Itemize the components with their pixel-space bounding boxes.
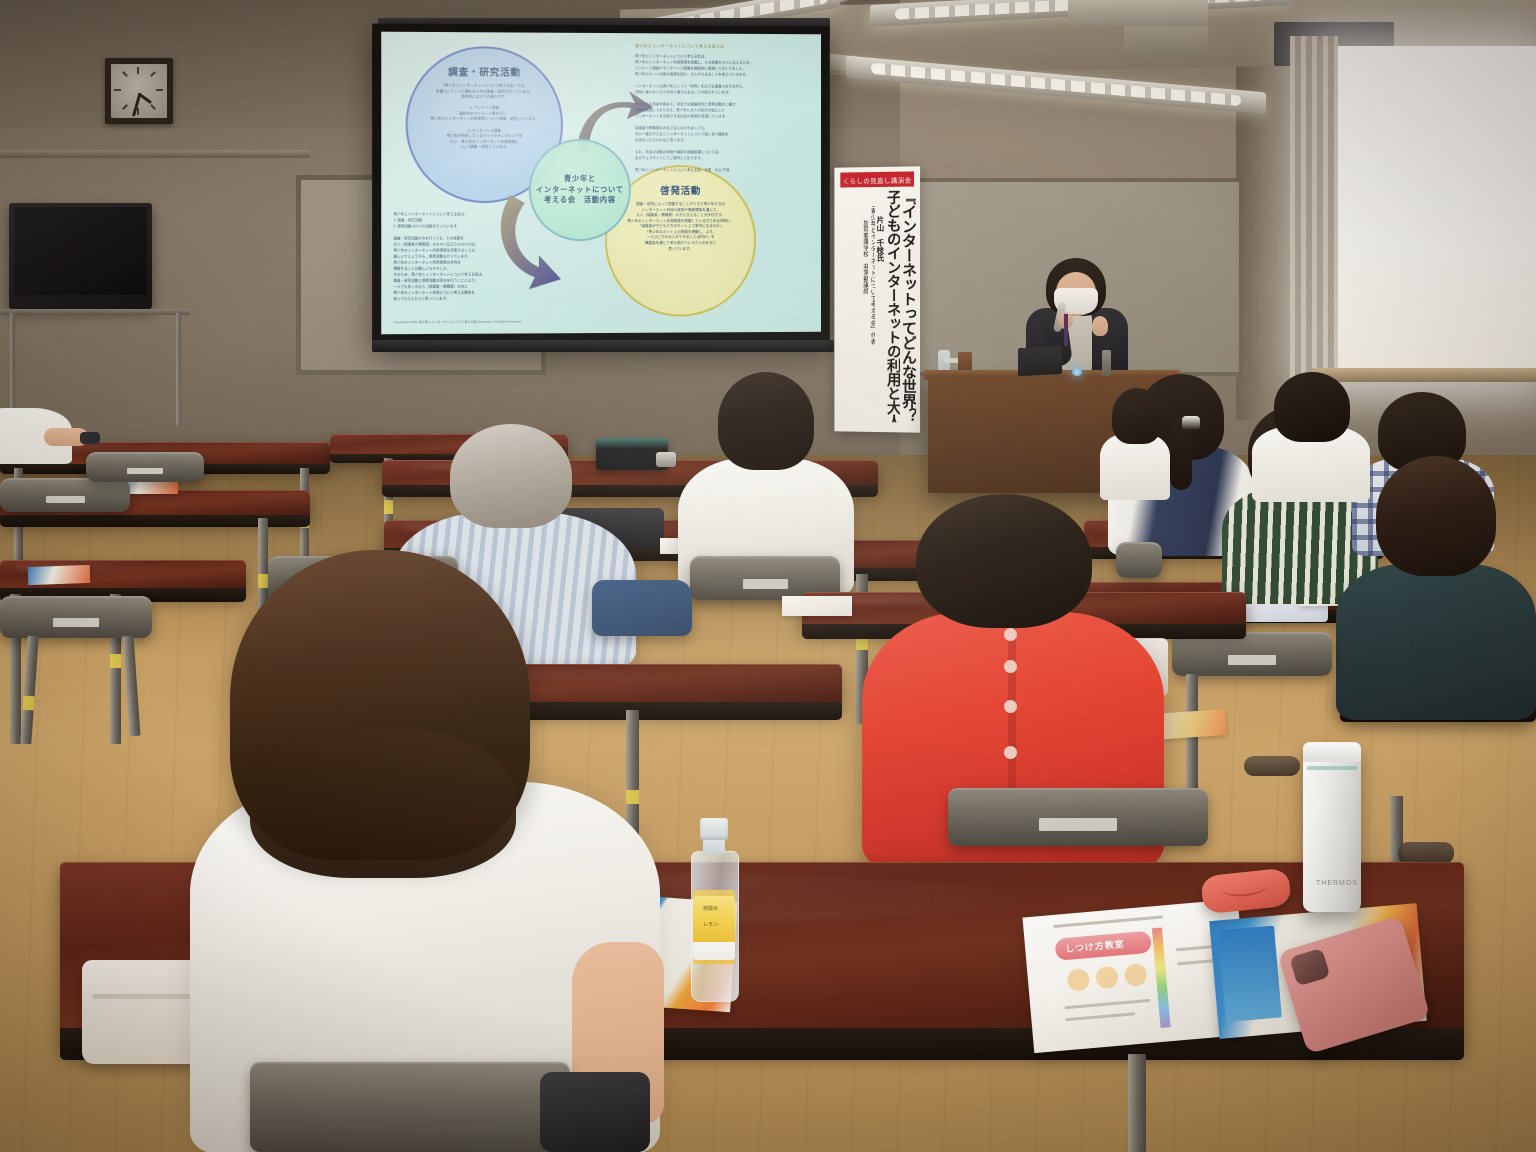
chair-label (46, 496, 85, 503)
chair-foreground (250, 1062, 570, 1152)
chair-backrest (948, 788, 1208, 846)
person-grey-hair (450, 424, 572, 528)
clock-tick (122, 104, 128, 110)
banner-header-label: くらしの見直し講演会 (840, 171, 914, 187)
presenter-lanyard (1064, 314, 1068, 346)
person-white-blouse-right (1100, 388, 1170, 498)
clock-tick (150, 71, 156, 77)
brochure-text-line (1064, 999, 1150, 1009)
slide-copyright: Copyright(C) 2011 青少年とインターネットについて考える会 Co… (393, 319, 521, 324)
person-ponytail (1170, 420, 1192, 490)
chair-label (53, 618, 99, 627)
chair-back-left-2 (86, 452, 204, 482)
podium-microphone-stand (1102, 350, 1111, 376)
clock-tick (150, 104, 156, 110)
banner-affiliation: 加賀看護学校 非常勤講師 (862, 220, 868, 370)
person-hair (1112, 388, 1162, 444)
slide-circle-research-title: 調査・研究活動 (448, 64, 521, 78)
laptop-indicator-light (1072, 368, 1082, 376)
slide-left-text: 青少年とインターネットについて考える会は、 1. 調査・研究活動 2. 啓発活動… (393, 211, 542, 302)
bottle-label: 炭酸水 レモン (693, 896, 735, 960)
slide-right-header: 青少年とインターネットについて考える会とは (635, 43, 724, 49)
pen-icon (80, 432, 100, 444)
slide-circle-center-title: 青少年と インターネットについて 考える会 活動内容 (536, 174, 624, 206)
chair-label (743, 579, 788, 589)
flat-screen-tv (9, 203, 152, 309)
slide-circle-outreach-body: 調査・研究によって把握することができた青少年たちの インターネット利用の実態や情… (620, 202, 741, 252)
window (1318, 46, 1536, 376)
clock-tick (137, 108, 139, 115)
clock-face (111, 64, 167, 118)
footwear (1244, 756, 1300, 776)
shirt-button (1004, 628, 1017, 641)
chair-red-blouse (948, 788, 1208, 846)
clock-tick (156, 89, 163, 91)
wall-trim (0, 150, 310, 158)
projection-screen: 調査・研究活動 「青少年とインターネットについて考える会」では、 各種コンテンツ… (372, 24, 830, 349)
presenter-gesturing-hand (1092, 316, 1108, 336)
person-hair (1274, 372, 1350, 442)
brochure-panel (1218, 926, 1282, 1023)
projector-lens (656, 452, 676, 467)
clock-tick (137, 67, 139, 74)
footwear (1398, 842, 1454, 864)
chair-backrest (250, 1062, 570, 1152)
brochure-color-bar (1152, 928, 1171, 1028)
podium-laptop (1018, 346, 1062, 376)
plastic-drink-bottle: 炭酸水 レモン (688, 818, 740, 1000)
chair-back-left-3 (0, 596, 152, 638)
handout-paper (782, 596, 852, 616)
chair-backrest (86, 452, 204, 482)
tv-stand-leg (10, 313, 15, 419)
phone-camera-module-icon (1289, 948, 1330, 987)
chair-backrest (0, 596, 152, 638)
thermos-band (1307, 766, 1357, 770)
brochure-illustration (1061, 961, 1153, 995)
person-black-bob-hair (916, 494, 1092, 628)
bottle-neck (703, 838, 725, 854)
shirt-button (1004, 746, 1017, 759)
presentation-slide: 調査・研究活動 「青少年とインターネットについて考える会」では、 各種コンテンツ… (381, 32, 821, 335)
person-hair-lower (250, 728, 516, 878)
projection-screen-bottom-bar (372, 340, 834, 352)
slide-right-text: 青少年とインターネットについて考える会は、 青少年のインターネット利用実態を把握… (635, 53, 805, 173)
banner-org-line: 「青少年とインターネットについて考える会」代表 (869, 202, 875, 402)
person-hair (718, 372, 814, 470)
chair-leg-tag (23, 696, 35, 711)
bottle-label-subtext: レモン (703, 922, 718, 930)
seminar-room-photo: 調査・研究活動 「青少年とインターネットについて考える会」では、 各種コンテンツ… (0, 0, 1536, 1152)
hair-clip-icon (1182, 416, 1200, 430)
person-teal-top-right (1336, 456, 1536, 716)
ceiling-duct (1068, 0, 1208, 26)
tv-stand-leg (176, 313, 181, 425)
clock-tick (114, 89, 121, 91)
thermos-cap (1303, 742, 1361, 762)
brochure-text-line (1053, 915, 1163, 928)
chair-label (1039, 818, 1117, 831)
bottle-cap (700, 818, 728, 840)
person-left-edge-white (0, 408, 96, 468)
window-curtain (1290, 36, 1338, 384)
bag-on-chair (540, 1072, 650, 1152)
tv-screen (14, 207, 147, 295)
bottle-label-text: 炭酸水 (703, 906, 718, 914)
desk-leg-tag (110, 654, 121, 668)
chair-label (1228, 655, 1276, 665)
thermos-brand-label: THERMOS (1316, 880, 1358, 887)
banner-main-line-1: 『インターネットってどんな世界？ (901, 189, 916, 422)
person-teal-shirt (1336, 564, 1536, 720)
banner-speaker-name: 片山 千枝氏 (876, 216, 884, 396)
glasses-case-seam (1221, 876, 1269, 899)
tv-stand-shelf (0, 309, 190, 315)
handout-brochure (28, 565, 91, 585)
shirt-button (1004, 700, 1017, 713)
clock-tick (122, 71, 128, 77)
slide-circle-outreach-title: 啓発活動 (660, 183, 701, 197)
person-hair (1376, 456, 1496, 576)
desk-leg (1128, 1054, 1146, 1152)
slide-circle-center: 青少年と インターネットについて 考える会 活動内容 (529, 139, 631, 241)
shirt-button (1004, 660, 1017, 673)
brochure-text-line (1065, 1012, 1135, 1021)
wall-clock (105, 58, 173, 124)
chair-label (127, 468, 162, 475)
chair-backrest (0, 478, 130, 512)
banner-main-line-2: 子どものインターネットの利用と大人の役割』 (885, 190, 900, 423)
chair-back-left-1 (0, 478, 130, 512)
slide-circle-research-body: 「青少年とインターネットについて考える会」では、 各種コンテンツに関わるための調… (422, 83, 548, 150)
